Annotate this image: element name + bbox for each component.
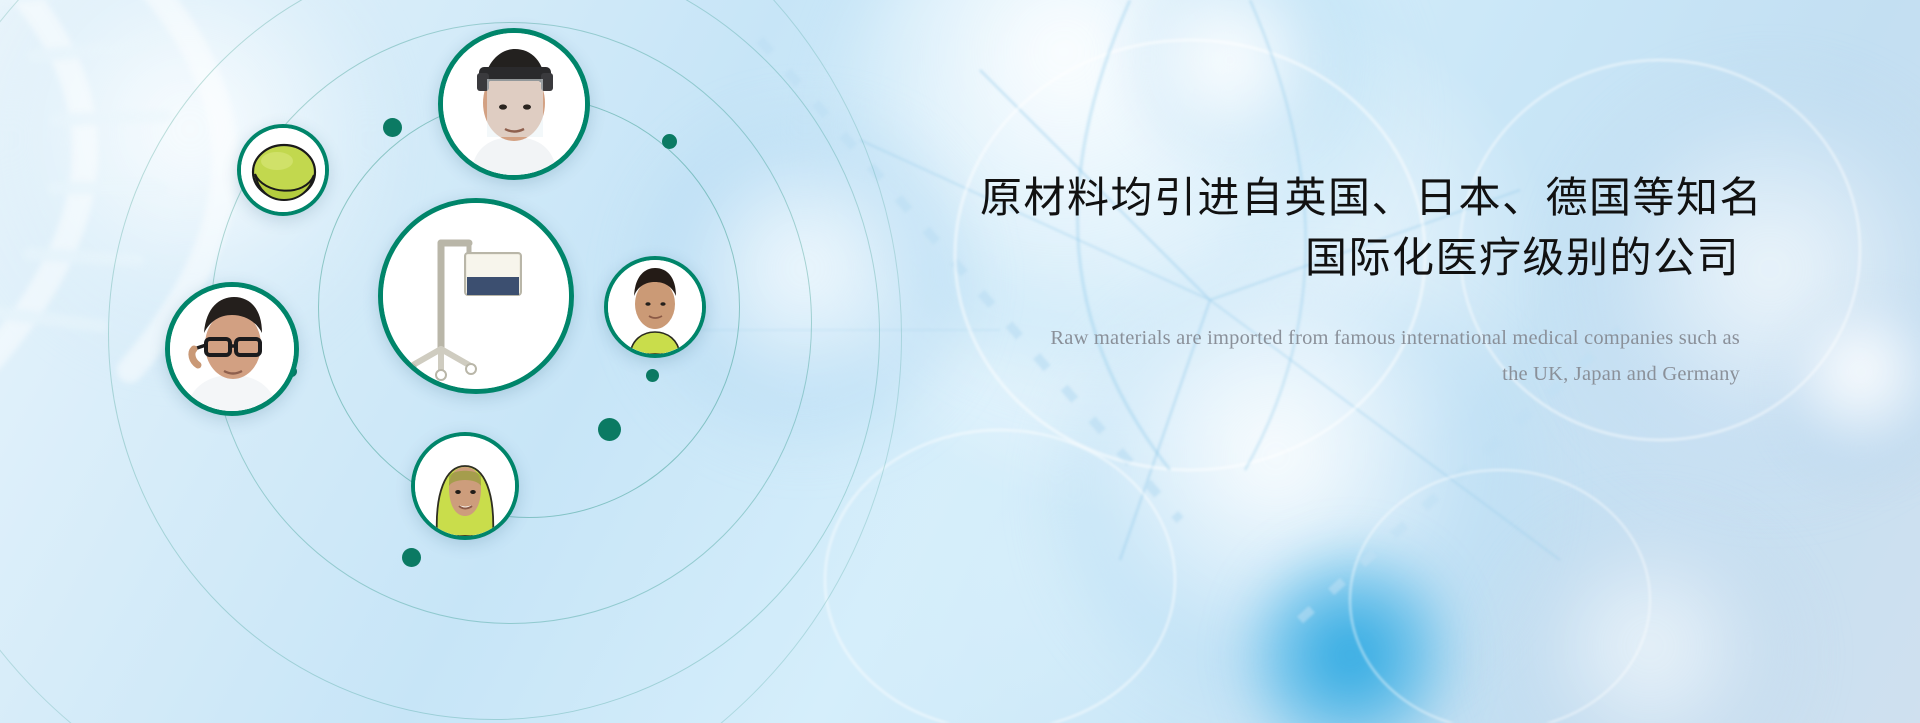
headline-line-1: 原材料均引进自英国、日本、德国等知名 bbox=[980, 174, 1763, 221]
mobile-xray-barrier-illustration bbox=[383, 203, 569, 389]
bubble-head-shield[interactable] bbox=[438, 28, 590, 180]
orbit-dot bbox=[662, 134, 677, 149]
lead-cap-illustration bbox=[241, 128, 325, 212]
bubble-glasses[interactable] bbox=[165, 282, 299, 416]
orbit-dot bbox=[598, 418, 621, 441]
woman-thyroid-collar-photo bbox=[608, 260, 702, 354]
woman-protective-hood-photo bbox=[415, 436, 515, 536]
hero-banner: 原材料均引进自英国、日本、德国等知名 国际化医疗级别的公司 Raw materi… bbox=[0, 0, 1920, 723]
headline-line-2: 国际化医疗级别的公司 bbox=[980, 228, 1740, 288]
subtitle-line-2: the UK, Japan and Germany bbox=[980, 357, 1740, 392]
bubble-lead-cap[interactable] bbox=[237, 124, 329, 216]
bubble-thyroid-collar[interactable] bbox=[604, 256, 706, 358]
background-blob-accent bbox=[1245, 540, 1455, 723]
background-blob bbox=[1500, 520, 1800, 723]
orbit-dot bbox=[383, 118, 402, 137]
bubble-hood[interactable] bbox=[411, 432, 519, 540]
orbit-dot bbox=[402, 548, 421, 567]
background-blob bbox=[1120, 0, 1340, 160]
hero-copy: 原材料均引进自英国、日本、德国等知名 国际化医疗级别的公司 Raw materi… bbox=[980, 168, 1740, 392]
technician-head-shield-photo bbox=[443, 33, 585, 175]
page-subtitle: Raw materials are imported from famous i… bbox=[980, 321, 1740, 392]
background-blob bbox=[1780, 300, 1920, 480]
bubble-mobile-barrier[interactable] bbox=[378, 198, 574, 394]
man-radiation-glasses-photo bbox=[170, 287, 294, 411]
subtitle-line-1: Raw materials are imported from famous i… bbox=[1050, 327, 1740, 349]
page-title: 原材料均引进自英国、日本、德国等知名 国际化医疗级别的公司 bbox=[980, 168, 1740, 287]
orbit-dot bbox=[646, 369, 659, 382]
